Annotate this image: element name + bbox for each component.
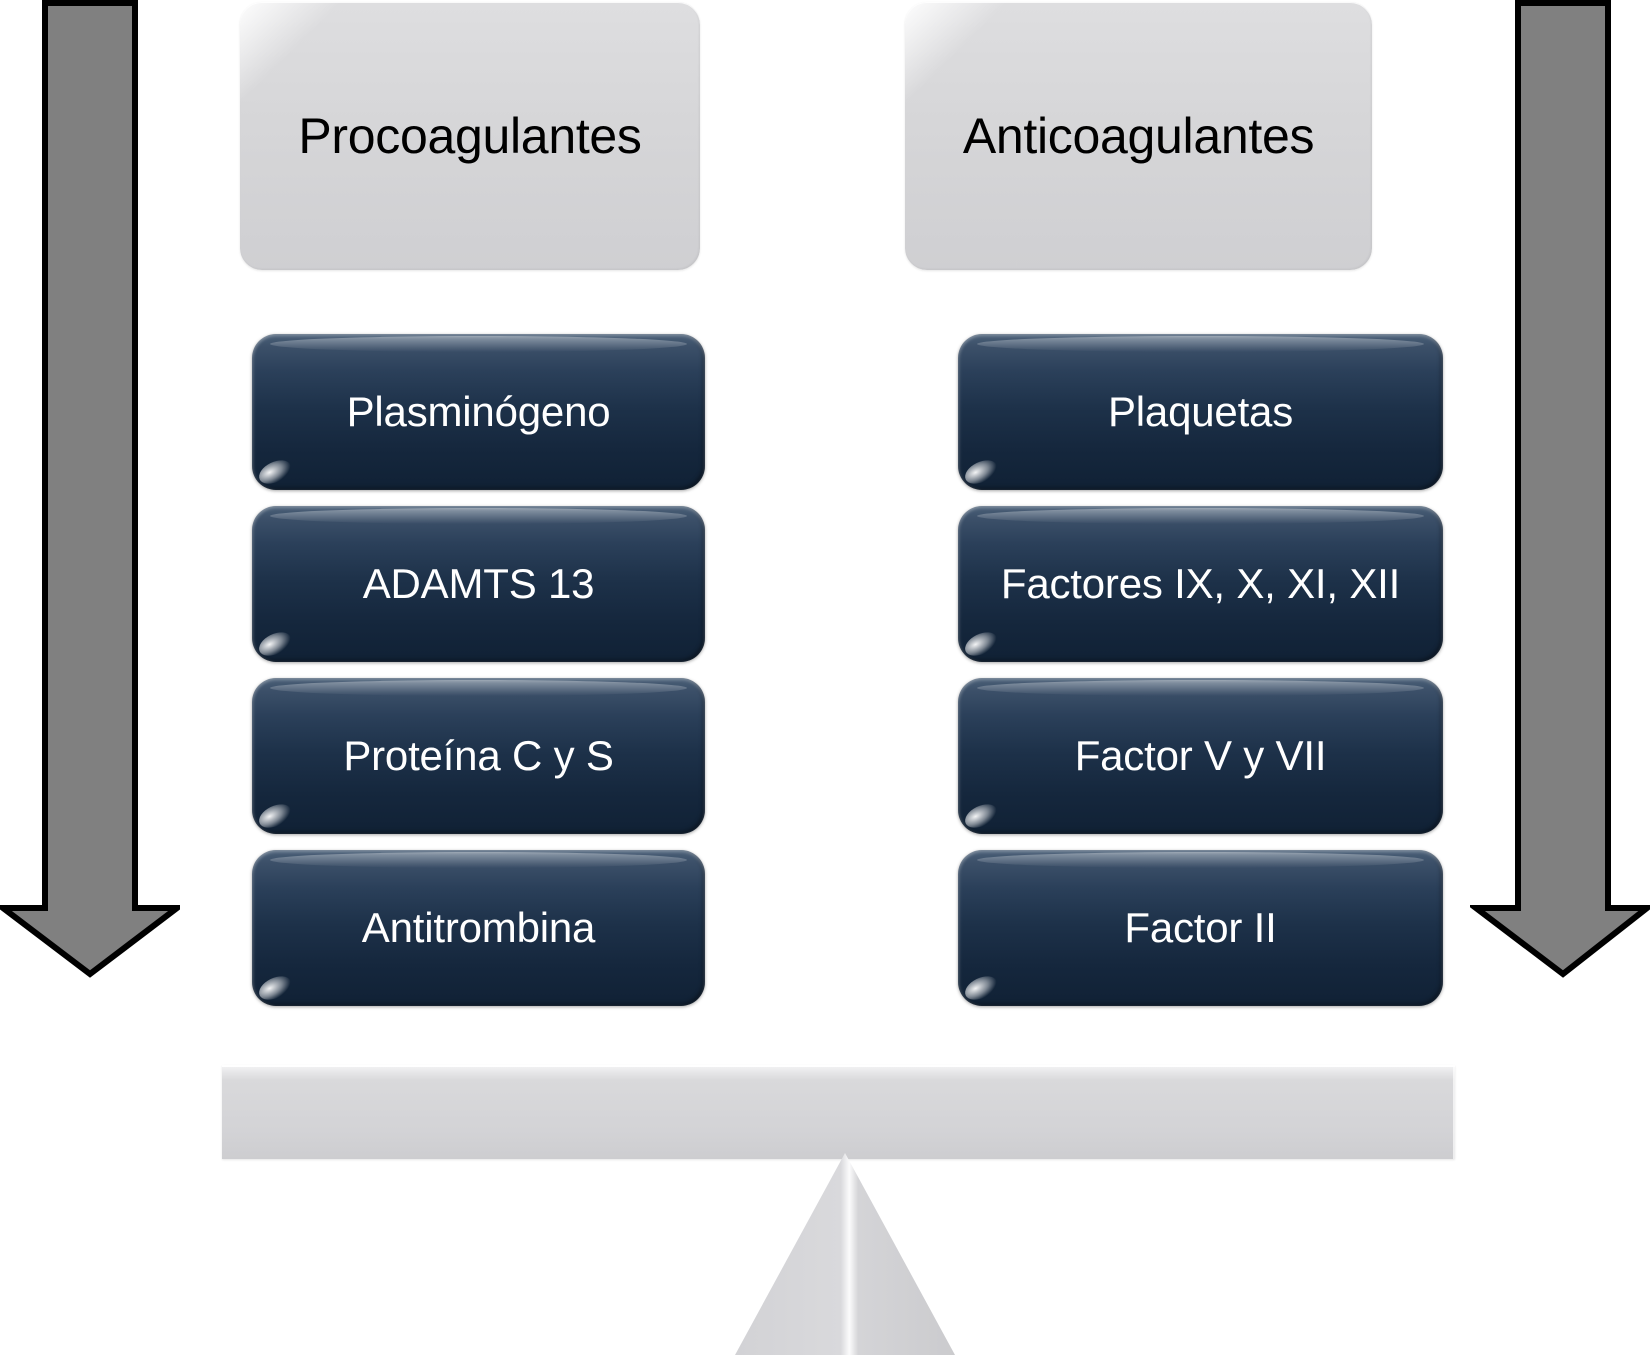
- item-box-plaquetas[interactable]: Plaquetas: [958, 334, 1443, 490]
- item-label-antitrombina: Antitrombina: [348, 904, 609, 951]
- category-header-anticoagulantes: Anticoagulantes: [905, 2, 1372, 270]
- item-label-factor-v-y-vii: Factor V y VII: [1061, 732, 1341, 779]
- item-box-factor-ii[interactable]: Factor II: [958, 850, 1443, 1006]
- category-header-procoagulantes-label: Procoagulantes: [298, 109, 641, 164]
- item-label-proteina-c-y-s: Proteína C y S: [329, 732, 627, 779]
- item-box-factores-ix-x-xi-xii[interactable]: Factores IX, X, XI, XII: [958, 506, 1443, 662]
- balance-beam: [222, 1065, 1455, 1159]
- item-box-antitrombina[interactable]: Antitrombina: [252, 850, 705, 1006]
- item-label-factor-ii: Factor II: [1110, 904, 1290, 951]
- item-label-plasminogeno: Plasminógeno: [333, 388, 625, 435]
- item-box-adamts-13[interactable]: ADAMTS 13: [252, 506, 705, 662]
- left-down-arrow: [0, 0, 180, 980]
- item-box-factor-v-y-vii[interactable]: Factor V y VII: [958, 678, 1443, 834]
- balance-fulcrum: [625, 1150, 1065, 1355]
- item-label-plaquetas: Plaquetas: [1094, 388, 1307, 435]
- item-box-proteina-c-y-s[interactable]: Proteína C y S: [252, 678, 705, 834]
- item-box-plasminogeno[interactable]: Plasminógeno: [252, 334, 705, 490]
- coagulation-balance-diagram: Procoagulantes Plasminógeno ADAMTS 13 Pr…: [0, 0, 1650, 1355]
- item-label-adamts-13: ADAMTS 13: [349, 560, 609, 607]
- right-down-arrow: [1470, 0, 1650, 980]
- item-label-factores-ix-x-xi-xii: Factores IX, X, XI, XII: [987, 560, 1414, 607]
- category-header-anticoagulantes-label: Anticoagulantes: [963, 109, 1314, 164]
- category-header-procoagulantes: Procoagulantes: [240, 2, 700, 270]
